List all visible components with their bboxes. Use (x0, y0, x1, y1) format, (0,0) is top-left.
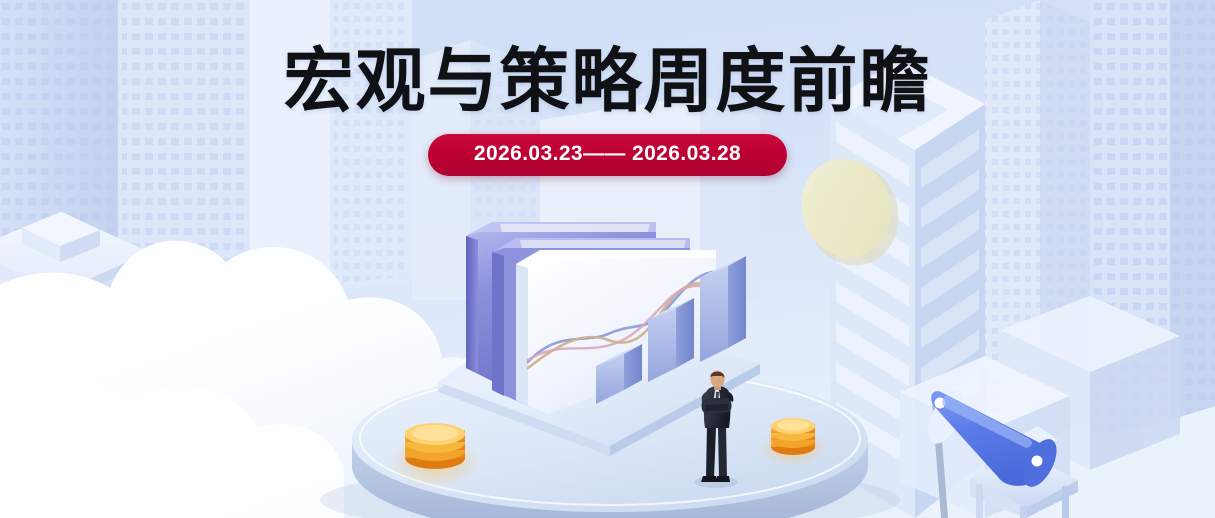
date-range-text: 2026.03.23—— 2026.03.28 (474, 142, 741, 165)
page-title: 宏观与策略周度前瞻 (0, 46, 1215, 116)
title-block: 宏观与策略周度前瞻 2026.03.23—— 2026.03.28 (0, 46, 1215, 176)
date-range-badge[interactable]: 2026.03.23—— 2026.03.28 (428, 134, 787, 176)
promo-banner: 宏观与策略周度前瞻 2026.03.23—— 2026.03.28 (0, 0, 1215, 518)
